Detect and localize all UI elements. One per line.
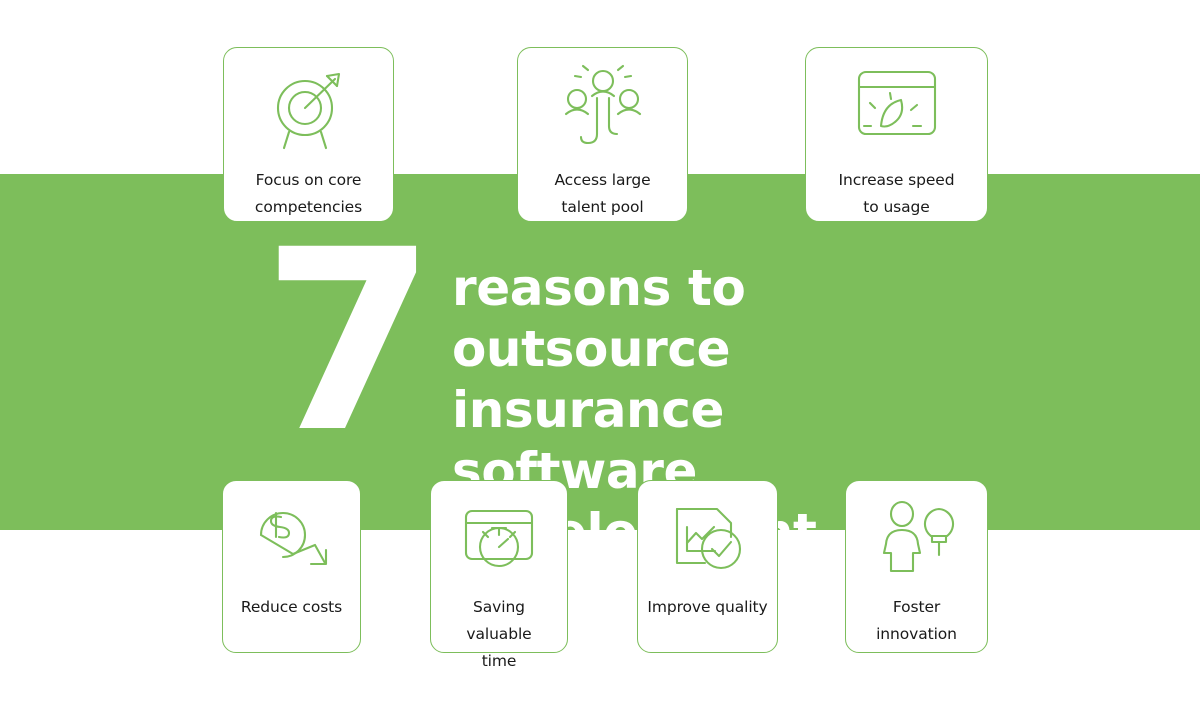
card-label: Access large talent pool [546,167,658,221]
dollar-down-arrow-icon [249,497,335,582]
card-label: Focus on core competencies [247,167,370,221]
card-label-line-1: Focus on core [255,167,362,194]
headline-line-1: reasons to outsource [452,258,982,380]
card-label-line-1: Reduce costs [241,594,342,621]
card-label: Improve quality [639,594,775,621]
card-label-line-2: time [439,648,559,675]
card-increase-speed-to-usage[interactable]: Increase speed to usage [805,47,988,222]
infographic-canvas: 7 reasons to outsource insurance softwar… [0,0,1200,707]
card-foster-innovation[interactable]: Foster innovation [845,480,988,653]
card-label-line-2: to usage [839,194,955,221]
card-label-line-1: Foster [876,594,957,621]
person-lightbulb-icon [874,497,960,582]
card-label-line-2: competencies [255,194,362,221]
card-label-line-2: innovation [876,621,957,648]
card-label-line-2: talent pool [554,194,650,221]
card-label-line-1: Saving valuable [439,594,559,648]
browser-speed-gauge-icon [851,64,943,161]
people-group-icon [557,64,649,161]
card-reduce-costs[interactable]: Reduce costs [222,480,361,653]
card-label-line-1: Increase speed [839,167,955,194]
browser-stopwatch-icon [456,497,542,582]
card-improve-quality[interactable]: Improve quality [637,480,778,653]
document-chart-check-icon [665,497,751,582]
headline-number: 7 [262,252,430,432]
card-label-line-1: Improve quality [647,594,767,621]
card-label: Reduce costs [233,594,350,621]
card-label-line-1: Access large [554,167,650,194]
card-label: Saving valuable time [431,594,567,675]
card-label: Foster innovation [868,594,965,648]
card-focus-on-core-competencies[interactable]: Focus on core competencies [223,47,394,222]
target-arrow-icon [263,64,355,161]
card-label: Increase speed to usage [831,167,963,221]
card-access-large-talent-pool[interactable]: Access large talent pool [517,47,688,222]
headline-block: 7 reasons to outsource insurance softwar… [262,250,982,450]
card-saving-valuable-time[interactable]: Saving valuable time [430,480,568,653]
